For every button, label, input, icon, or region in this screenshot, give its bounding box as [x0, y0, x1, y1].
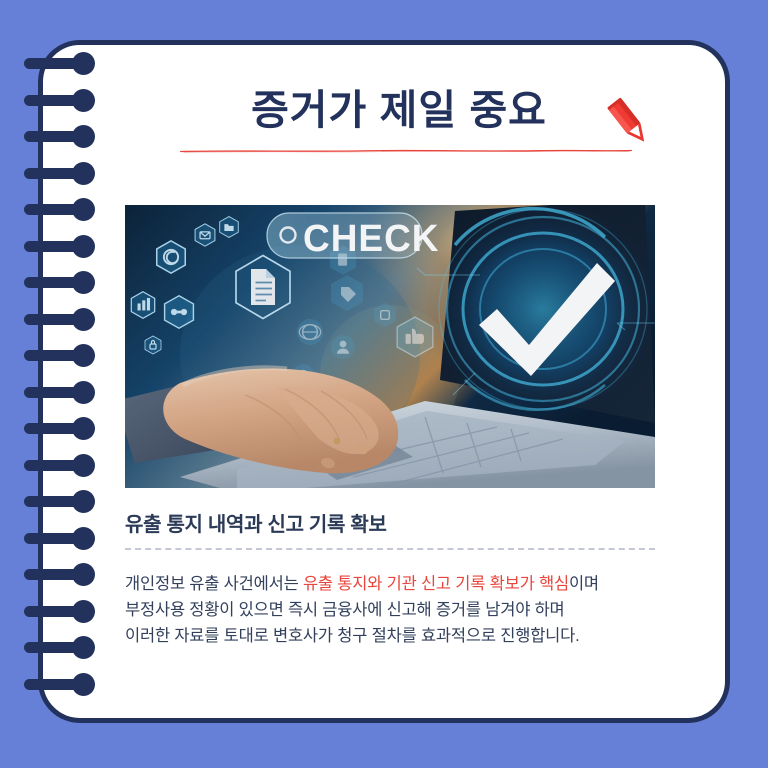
- title-block: 증거가 제일 중요: [125, 87, 665, 177]
- paragraph-text: 이러한 자료를 토대로 변호사가 청구 절차를 효과적으로 진행합니다.: [125, 627, 580, 645]
- section-subheading: 유출 통지 내역과 신고 기록 확보: [125, 508, 387, 537]
- dashed-divider: [125, 548, 655, 550]
- body-paragraph: 개인정보 유출 사건에서는 유출 통지와 기관 신고 기록 확보가 핵심이며부정…: [125, 571, 670, 649]
- paragraph-line: 이러한 자료를 토대로 변호사가 청구 절차를 효과적으로 진행합니다.: [125, 623, 670, 649]
- hero-photo: CHECK: [125, 205, 655, 488]
- paragraph-text: 개인정보 유출 사건에서는: [125, 575, 303, 593]
- page-title: 증거가 제일 중요: [160, 87, 630, 134]
- paragraph-text: 부정사용 정황이 있으면 즉시 금융사에 신고해 증거를 남겨야 하며: [125, 601, 565, 619]
- title-underline: [180, 149, 632, 153]
- red-pencil-icon: [601, 95, 657, 151]
- photo-illustration: CHECK: [125, 205, 655, 488]
- paragraph-line: 개인정보 유출 사건에서는 유출 통지와 기관 신고 기록 확보가 핵심이며: [125, 571, 670, 597]
- paragraph-line: 부정사용 정황이 있으면 즉시 금융사에 신고해 증거를 남겨야 하며: [125, 597, 670, 623]
- paragraph-text: 이며: [569, 575, 599, 593]
- notebook-card: 증거가 제일 중요: [38, 40, 730, 723]
- page-root: 증거가 제일 중요: [0, 0, 768, 768]
- highlighted-text: 유출 통지와 기관 신고 기록 확보가 핵심: [303, 575, 569, 593]
